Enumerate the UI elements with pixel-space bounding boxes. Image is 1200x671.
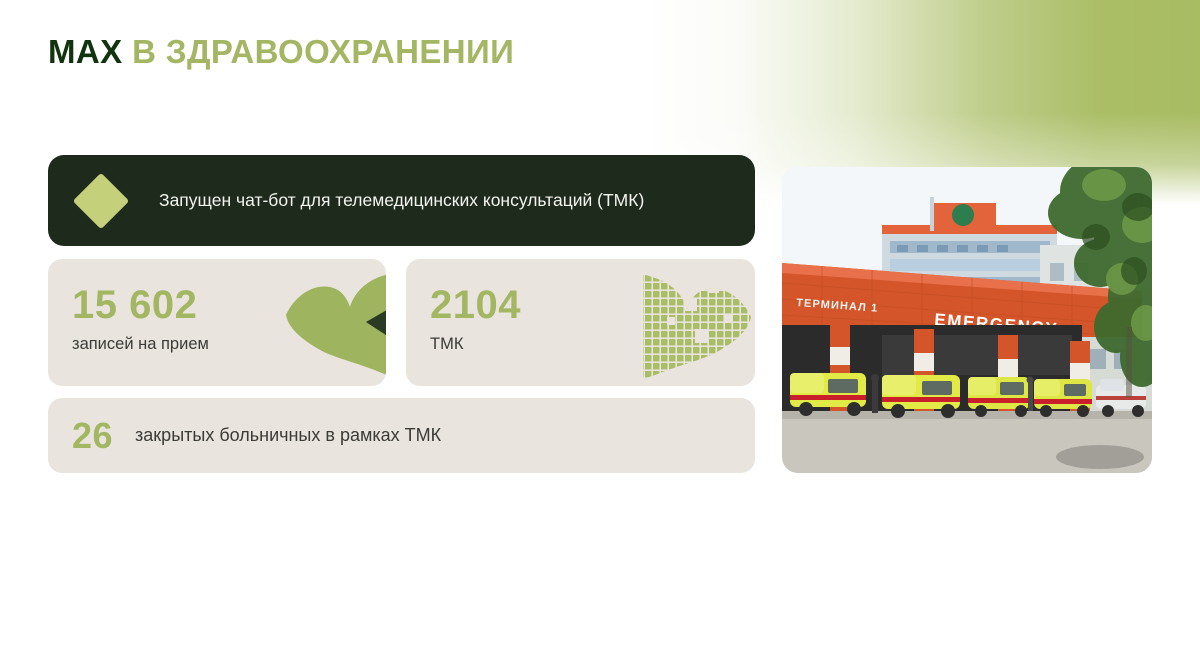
stat-card-appointments: 15 602 записей на прием	[48, 259, 386, 386]
stat-card-sick-leaves: 26 закрытых больничных в рамках ТМК	[48, 398, 755, 473]
stat-card-tmk: 2104 ТМК	[406, 259, 755, 386]
stat-value: 2104	[430, 284, 521, 326]
diamond-icon	[73, 172, 130, 229]
stat-label: записей на прием	[72, 335, 209, 355]
stat-value: 26	[72, 418, 113, 454]
stat-label: закрытых больничных в рамках ТМК	[135, 425, 441, 447]
stat-label: ТМК	[430, 335, 521, 355]
title-brand: MAX	[48, 33, 123, 70]
stat-text-group: 2104 ТМК	[430, 284, 521, 355]
leaf-solid-icon	[282, 259, 386, 386]
highlight-card-text: Запущен чат-бот для телемедицинских конс…	[159, 188, 644, 212]
highlight-card: Запущен чат-бот для телемедицинских конс…	[48, 155, 755, 246]
leaf-pixel-icon	[637, 259, 755, 386]
stat-value: 15 602	[72, 284, 209, 326]
hospital-photo: ТЕРМИНАЛ 1 EMERGENCY ТЕРМИНАЛ 2	[782, 167, 1152, 473]
title-rest: В ЗДРАВООХРАНЕНИИ	[132, 33, 514, 70]
slide-root: MAX В ЗДРАВООХРАНЕНИИ Запущен чат-бот дл…	[0, 0, 1200, 671]
stat-text-group: 15 602 записей на прием	[72, 284, 209, 355]
page-title: MAX В ЗДРАВООХРАНЕНИИ	[48, 34, 514, 70]
stat-card-row: 15 602 записей на прием 2104 ТМК	[48, 259, 755, 386]
